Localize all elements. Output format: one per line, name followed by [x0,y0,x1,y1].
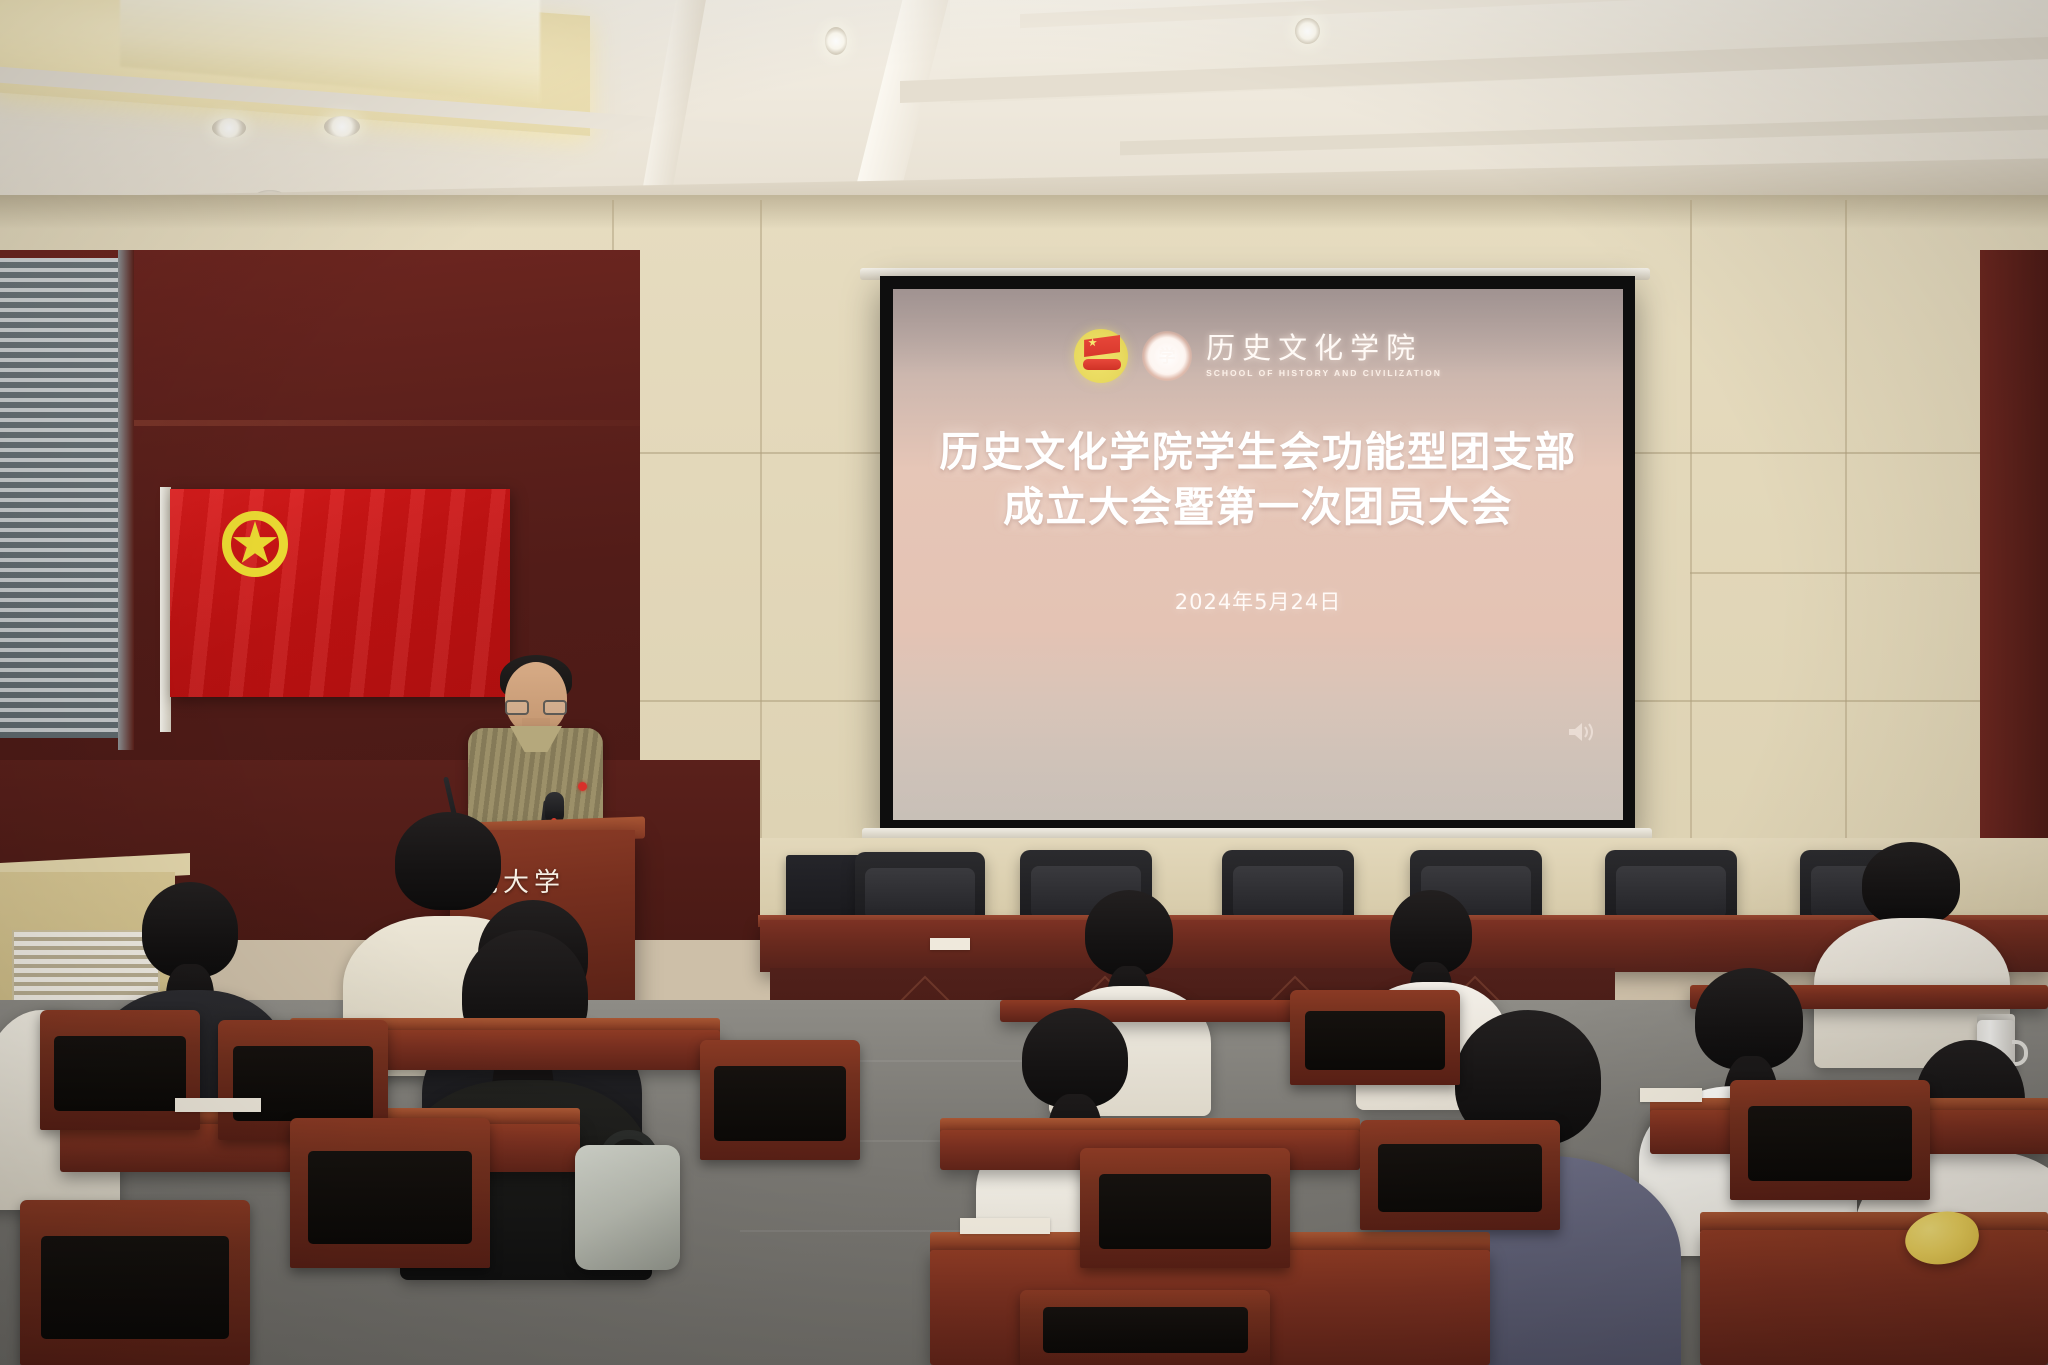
audience-desk-top [1700,1212,2048,1232]
projection-screen: 学 历史文化学院 SCHOOL OF HISTORY AND CIVILIZAT… [880,276,1635,836]
communist-youth-league-flag [170,489,510,697]
audience-desk [1700,1230,2048,1365]
party-pin-icon [578,782,587,791]
audience-chair [20,1200,250,1365]
desk-paper [175,1098,261,1112]
audience-chair [1730,1080,1930,1200]
presentation-slide: 学 历史文化学院 SCHOOL OF HISTORY AND CIVILIZAT… [893,289,1623,820]
stage-paper [930,938,970,950]
slide-title-line-1: 历史文化学院学生会功能型团支部 [939,425,1577,480]
backpack [575,1145,680,1270]
ceiling-downlight [212,118,246,138]
audience-chair [1020,1290,1270,1365]
conference-room-photo: 学 历史文化学院 SCHOOL OF HISTORY AND CIVILIZAT… [0,0,2048,1365]
window [0,258,128,738]
wall-panel-seam [760,200,762,900]
school-seal-glyph: 学 [1150,339,1184,373]
audience-chair [1360,1120,1560,1230]
school-seal-icon: 学 [1142,331,1192,381]
audience-chair [40,1010,200,1130]
wall-panel-seam [1690,200,1692,900]
wall-top-shadow [0,195,2048,229]
slide-logo-row: 学 历史文化学院 SCHOOL OF HISTORY AND CIVILIZAT… [1074,329,1442,383]
ceiling-downlight [1295,18,1320,44]
audience-chair [290,1118,490,1268]
ceiling-downlight [825,27,847,55]
ceiling-beam [1120,115,2048,156]
flag-folds [170,489,510,697]
window-frame [118,250,134,750]
school-name-en: SCHOOL OF HISTORY AND CIVILIZATION [1206,368,1442,378]
slide-title-line-2: 成立大会暨第一次团员大会 [1003,480,1513,535]
audience-chair [1290,990,1460,1085]
volume-icon [1567,720,1597,744]
slide-date: 2024年5月24日 [1175,586,1342,616]
desk-paper [1640,1088,1702,1102]
school-name-cn: 历史文化学院 [1206,334,1442,364]
window-blinds [0,258,128,738]
glasses-icon [505,700,567,715]
audience-chair [1080,1148,1290,1268]
ceiling-downlight [324,116,360,137]
audience-chair [700,1040,860,1160]
desk-paper [960,1218,1050,1234]
wall-panel-seam [1845,200,1847,900]
communist-youth-league-emblem-icon [1074,329,1128,383]
